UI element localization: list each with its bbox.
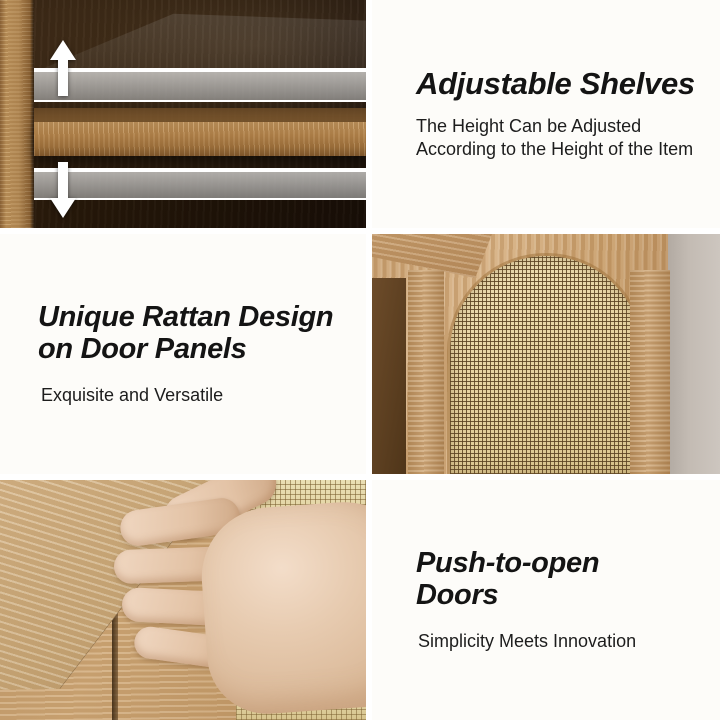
adjustable-shelves-subtitle: The Height Can be Adjusted According to … xyxy=(416,115,720,161)
push-to-open-title: Push-to-open Doors xyxy=(416,547,720,612)
adjustable-shelves-title: Adjustable Shelves xyxy=(416,67,720,102)
hand-pushing-door xyxy=(108,486,366,720)
ghost-shelf-lower-front-face xyxy=(34,170,366,200)
wooden-shelf xyxy=(34,122,366,156)
push-to-open-image xyxy=(0,480,366,720)
adjustable-shelves-text-panel: Adjustable Shelves The Height Can be Adj… xyxy=(372,0,720,228)
ghost-shelf-upper-edge-line xyxy=(34,68,366,70)
arrow-up-icon xyxy=(50,40,76,96)
cabinet-left-frame xyxy=(0,0,34,228)
ghost-shelf-upper-position xyxy=(34,12,366,98)
adjustable-shelves-image xyxy=(0,0,366,228)
ghost-shelf-upper-front-face xyxy=(34,70,366,102)
ghost-shelf-lower-position xyxy=(34,160,366,222)
cabinet-side-shadow xyxy=(372,278,406,474)
rattan-arch-panel xyxy=(450,256,642,474)
rattan-design-text-panel: Unique Rattan Design on Door Panels Exqu… xyxy=(0,234,366,474)
room-wall-background xyxy=(668,234,720,474)
ghost-shelf-lower-top-line xyxy=(34,168,366,170)
palm xyxy=(197,496,366,718)
ghost-shelf-lower-bottom-line xyxy=(34,198,366,200)
rattan-design-title: Unique Rattan Design on Door Panels xyxy=(38,301,366,366)
rattan-design-image xyxy=(372,234,720,474)
arrow-down-icon xyxy=(50,162,76,218)
door-stile-right xyxy=(630,270,670,474)
door-stile-left xyxy=(408,270,444,474)
infographic-sheet: Adjustable Shelves The Height Can be Adj… xyxy=(0,0,720,720)
rattan-design-subtitle: Exquisite and Versatile xyxy=(38,384,366,407)
push-to-open-subtitle: Simplicity Meets Innovation xyxy=(416,630,720,653)
push-to-open-text-panel: Push-to-open Doors Simplicity Meets Inno… xyxy=(372,480,720,720)
